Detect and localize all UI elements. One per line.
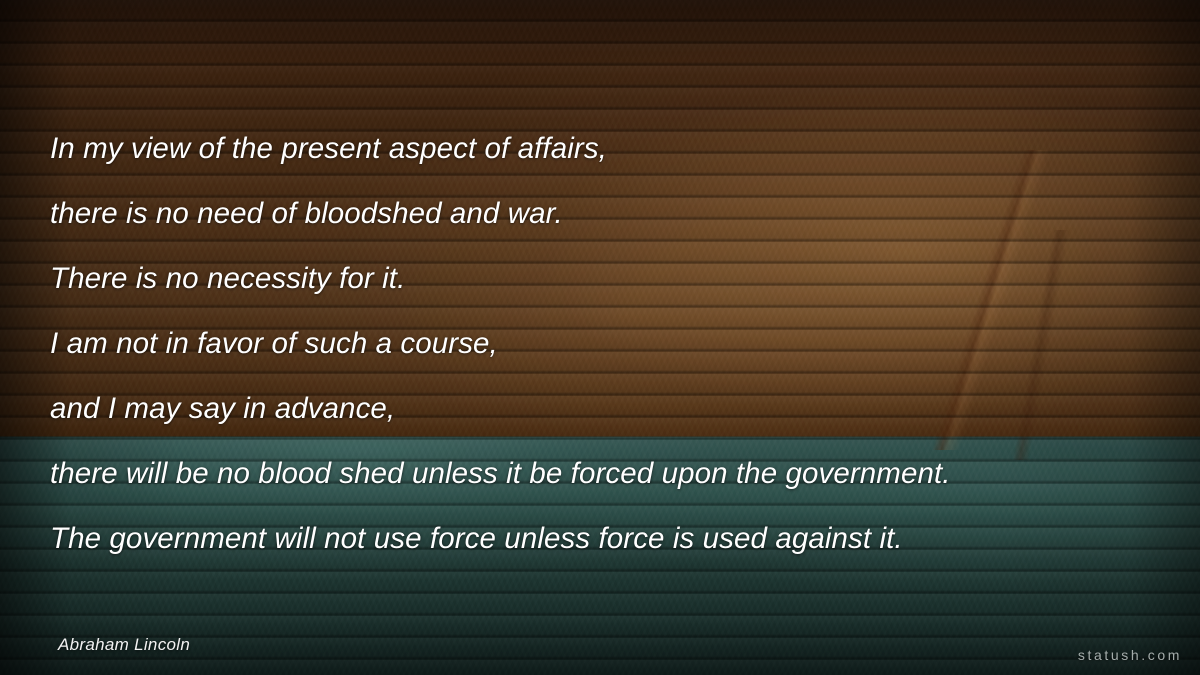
quote-card: In my view of the present aspect of affa… bbox=[0, 0, 1200, 675]
quote-line: There is no necessity for it. bbox=[50, 246, 1180, 311]
quote-line: In my view of the present aspect of affa… bbox=[50, 116, 1180, 181]
quote-line: and I may say in advance, bbox=[50, 376, 1180, 441]
quote-line: The government will not use force unless… bbox=[50, 506, 1180, 571]
card-content: In my view of the present aspect of affa… bbox=[0, 0, 1200, 675]
quote-author: Abraham Lincoln bbox=[58, 635, 190, 655]
quote-line: there is no need of bloodshed and war. bbox=[50, 181, 1180, 246]
quote-line: there will be no blood shed unless it be… bbox=[50, 441, 1180, 506]
quote-line: I am not in favor of such a course, bbox=[50, 311, 1180, 376]
quote-text-block: In my view of the present aspect of affa… bbox=[50, 116, 1180, 571]
site-watermark: statush.com bbox=[1078, 647, 1182, 663]
